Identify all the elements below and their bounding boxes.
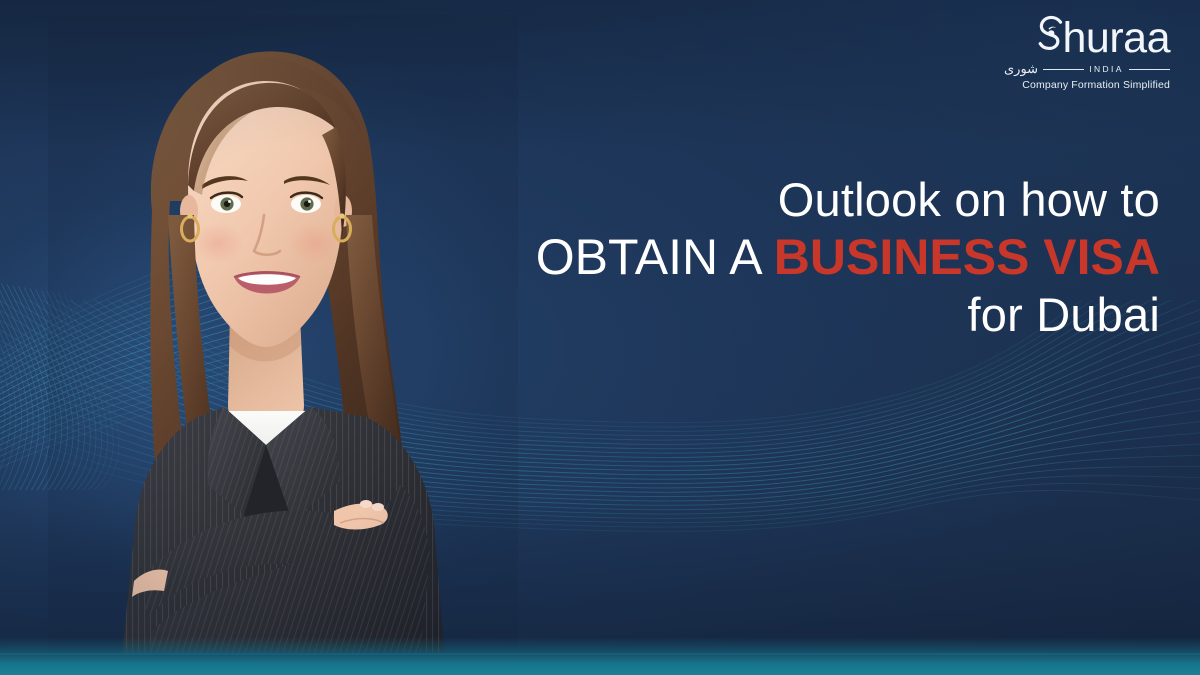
logo-divider-rule-2 — [1129, 69, 1170, 70]
shuraa-logo[interactable]: huraa شورى INDIA Company Formation Simpl… — [1004, 14, 1172, 91]
headline-line-3: for Dubai — [500, 291, 1160, 338]
headline-block: Outlook on how to OBTAIN A BUSINESS VISA… — [500, 176, 1160, 338]
headline-line-2-accent: BUSINESS VISA — [774, 229, 1160, 285]
logo-wordmark-text: huraa — [1063, 14, 1170, 62]
hero-banner: huraa شورى INDIA Company Formation Simpl… — [0, 0, 1200, 675]
logo-tagline: Company Formation Simplified — [1004, 79, 1172, 91]
businesswoman-portrait-photo — [48, 15, 518, 675]
logo-subline: شورى INDIA — [1004, 61, 1172, 77]
logo-arabic-text: شورى — [1004, 61, 1038, 77]
headline-line-2-plain: OBTAIN A — [536, 229, 774, 285]
headline-line-1: Outlook on how to — [500, 176, 1160, 223]
logo-s-glyph-icon — [1038, 14, 1064, 54]
logo-wordmark: huraa — [1004, 14, 1172, 60]
footer-accent-bar — [0, 653, 1200, 675]
logo-divider-rule — [1043, 69, 1084, 70]
headline-line-2: OBTAIN A BUSINESS VISA — [500, 232, 1160, 282]
logo-region-text: INDIA — [1089, 61, 1124, 77]
